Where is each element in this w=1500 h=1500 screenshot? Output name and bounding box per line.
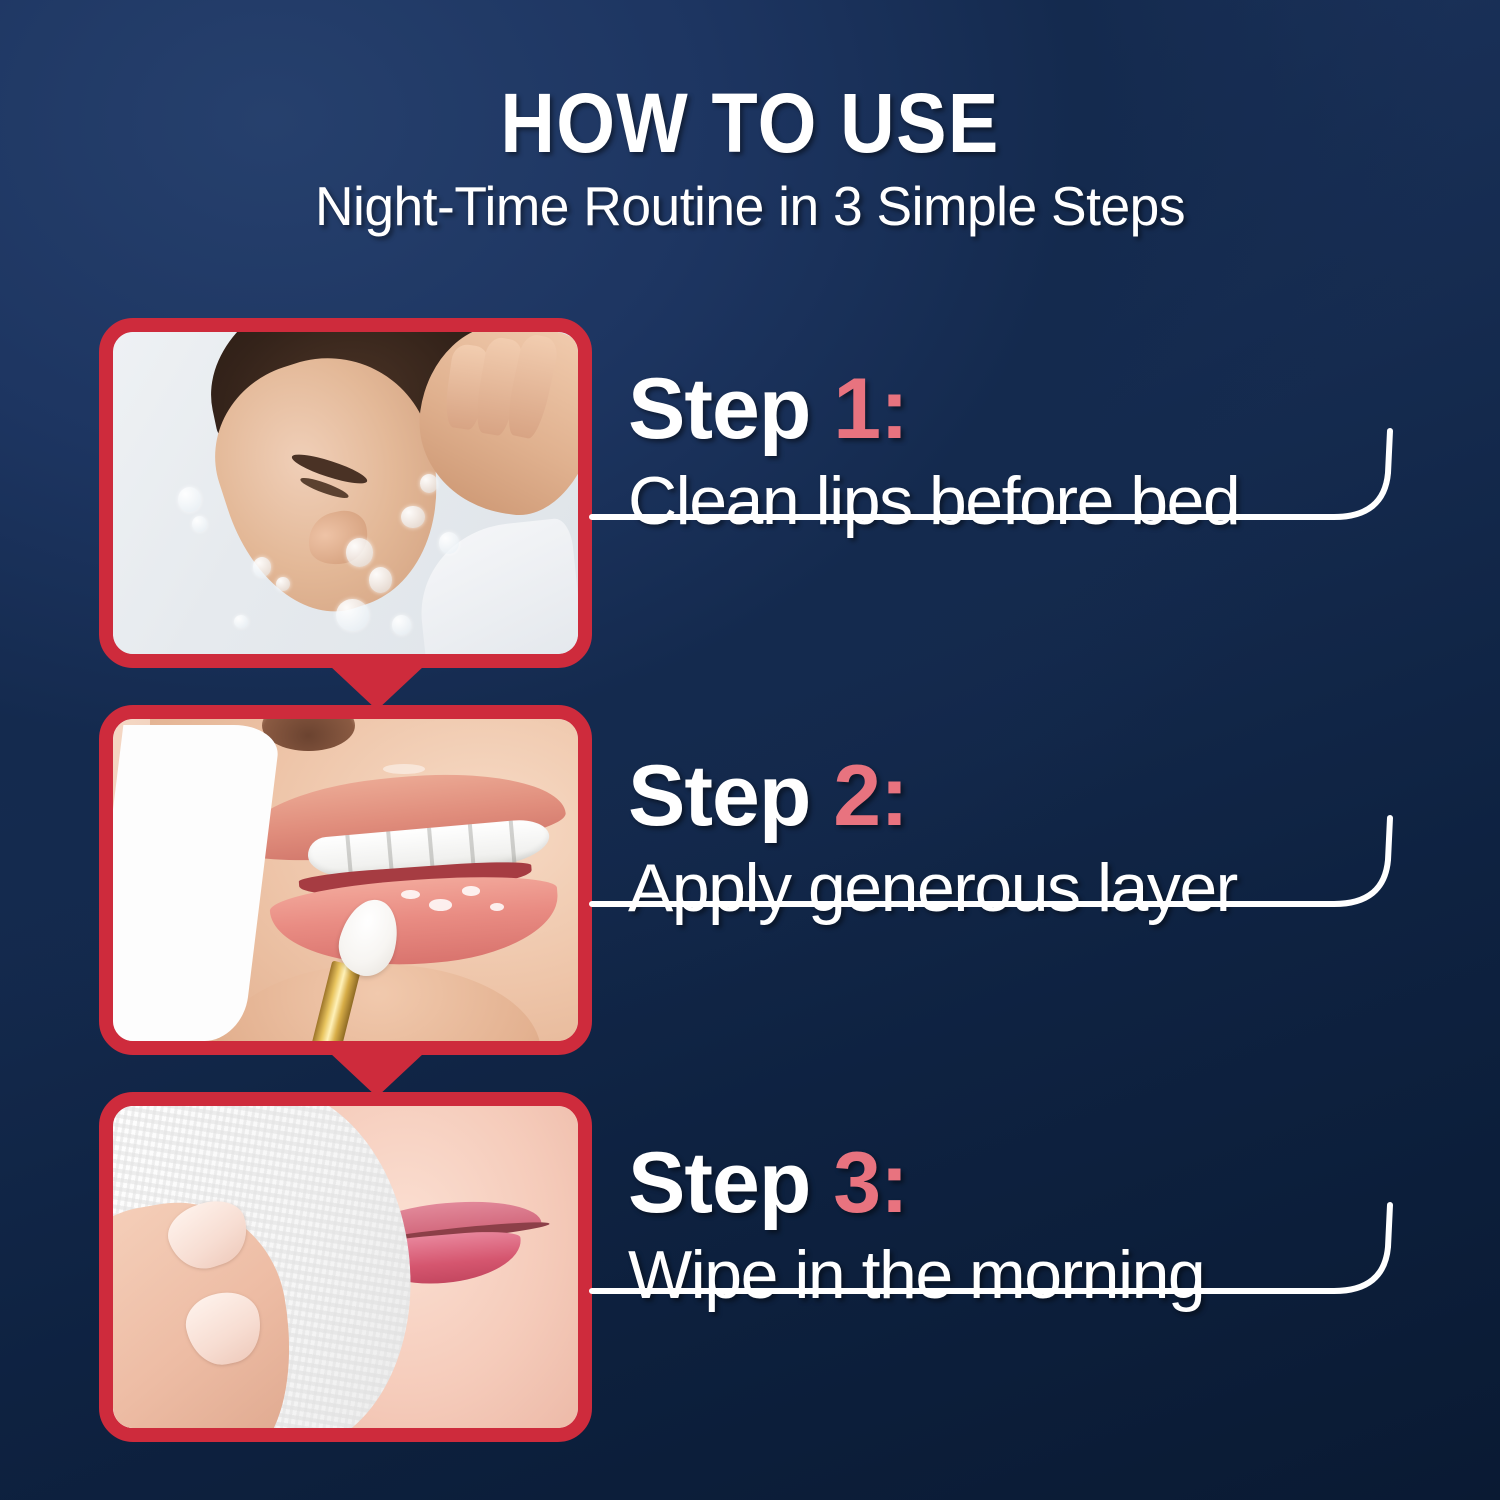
water-droplet <box>276 577 290 591</box>
step-3-photo-frame <box>99 1092 592 1442</box>
face-washing-photo <box>113 332 578 654</box>
water-droplet <box>253 557 272 576</box>
step-label: Step <box>628 361 810 457</box>
water-droplet <box>392 615 411 634</box>
shoulder-shape <box>413 517 578 654</box>
lip-gloss-highlight <box>490 903 504 911</box>
step-row: Step 2: Apply generous layer <box>0 705 1500 1055</box>
step-heading: Step 1: <box>628 366 1500 452</box>
step-description: Apply generous layer <box>628 839 1500 924</box>
towel-wipe-photo <box>113 1106 578 1428</box>
step-connector-arrow-icon <box>330 1053 424 1097</box>
step-1-text: Step 1: Clean lips before bed <box>628 318 1500 537</box>
water-droplet <box>346 538 374 567</box>
step-heading: Step 3: <box>628 1140 1500 1226</box>
water-droplet <box>178 487 201 513</box>
step-description: Clean lips before bed <box>628 452 1500 537</box>
water-droplet <box>192 516 207 532</box>
lip-applicator-photo <box>113 719 578 1041</box>
step-number: 2: <box>833 748 907 844</box>
step-number: 3: <box>833 1135 907 1231</box>
step-2-photo-frame <box>99 705 592 1055</box>
step-row: Step 1: Clean lips before bed <box>0 318 1500 668</box>
lip-gloss-highlight <box>383 764 425 774</box>
water-droplet <box>369 567 392 593</box>
tooth-divider <box>509 821 517 866</box>
lip-gloss-highlight <box>429 899 452 910</box>
water-droplet <box>234 615 248 628</box>
step-1-photo-frame <box>99 318 592 668</box>
step-label: Step <box>628 748 810 844</box>
water-droplet <box>336 599 369 631</box>
how-to-use-infographic: HOW TO USE Night-Time Routine in 3 Simpl… <box>0 0 1500 1500</box>
step-number: 1: <box>833 361 907 457</box>
step-description: Wipe in the morning <box>628 1226 1500 1311</box>
steps-list: Step 1: Clean lips before bed <box>0 318 1500 1442</box>
step-2-text: Step 2: Apply generous layer <box>628 705 1500 924</box>
step-connector-arrow-icon <box>330 666 424 710</box>
lip-gloss-highlight <box>401 890 420 900</box>
header: HOW TO USE Night-Time Routine in 3 Simpl… <box>0 0 1500 236</box>
page-title: HOW TO USE <box>75 0 1425 164</box>
page-subtitle: Night-Time Routine in 3 Simple Steps <box>23 164 1478 236</box>
step-row: Step 3: Wipe in the morning <box>0 1092 1500 1442</box>
water-droplet <box>401 506 424 529</box>
step-label: Step <box>628 1135 810 1231</box>
step-3-text: Step 3: Wipe in the morning <box>628 1092 1500 1311</box>
step-heading: Step 2: <box>628 753 1500 839</box>
